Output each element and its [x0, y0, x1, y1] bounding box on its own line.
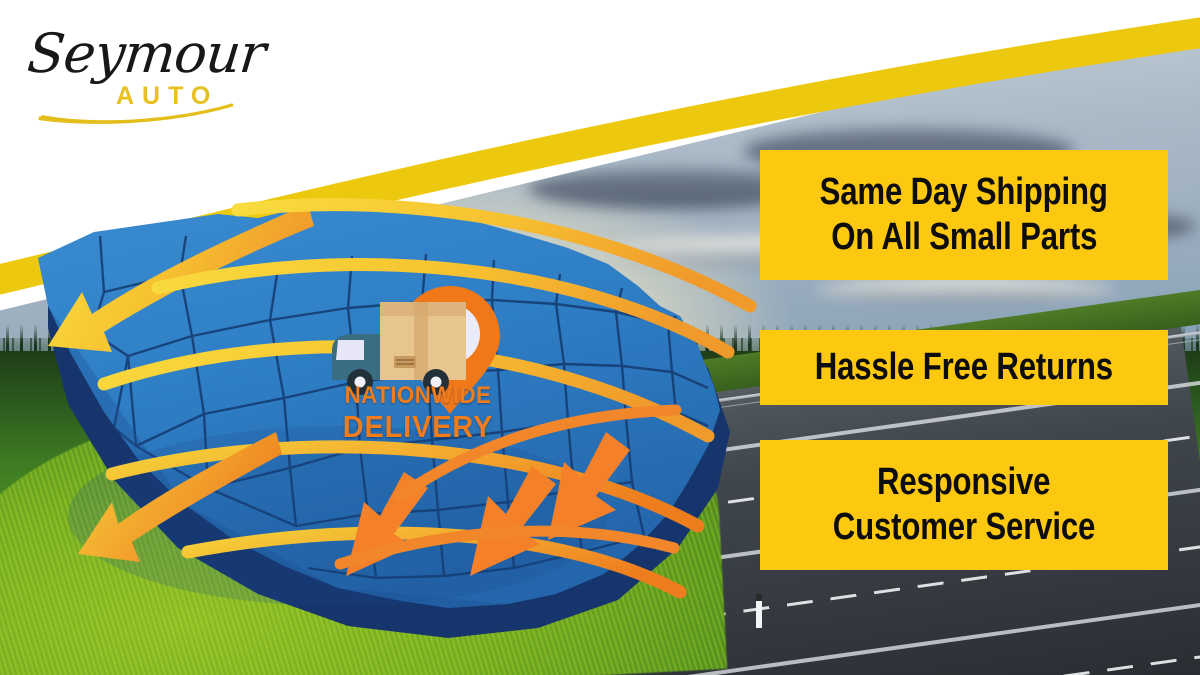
- feature-same-day-shipping[interactable]: Same Day Shipping On All Small Parts: [760, 150, 1168, 280]
- promo-banner: Seymour AUTO: [0, 0, 1200, 675]
- feature-line-1: Responsive: [877, 460, 1050, 505]
- feature-responsive-customer-service[interactable]: Responsive Customer Service: [760, 440, 1168, 570]
- logo-swoosh-icon: [24, 94, 244, 128]
- brand-logo[interactable]: Seymour AUTO: [24, 18, 244, 128]
- feature-line-1: Hassle Free Returns: [815, 345, 1113, 390]
- nationwide-line-2: DELIVERY: [325, 411, 511, 442]
- logo-wordmark: Seymour: [25, 22, 268, 85]
- nationwide-delivery-label: NATIONWIDE DELIVERY: [318, 384, 518, 442]
- nationwide-line-1: NATIONWIDE: [325, 384, 511, 408]
- feature-line-1: Same Day Shipping: [820, 170, 1108, 215]
- feature-line-2: On All Small Parts: [831, 215, 1097, 260]
- cloud-shape: [816, 277, 1116, 303]
- feature-hassle-free-returns[interactable]: Hassle Free Returns: [760, 330, 1168, 405]
- feature-line-2: Customer Service: [833, 505, 1095, 550]
